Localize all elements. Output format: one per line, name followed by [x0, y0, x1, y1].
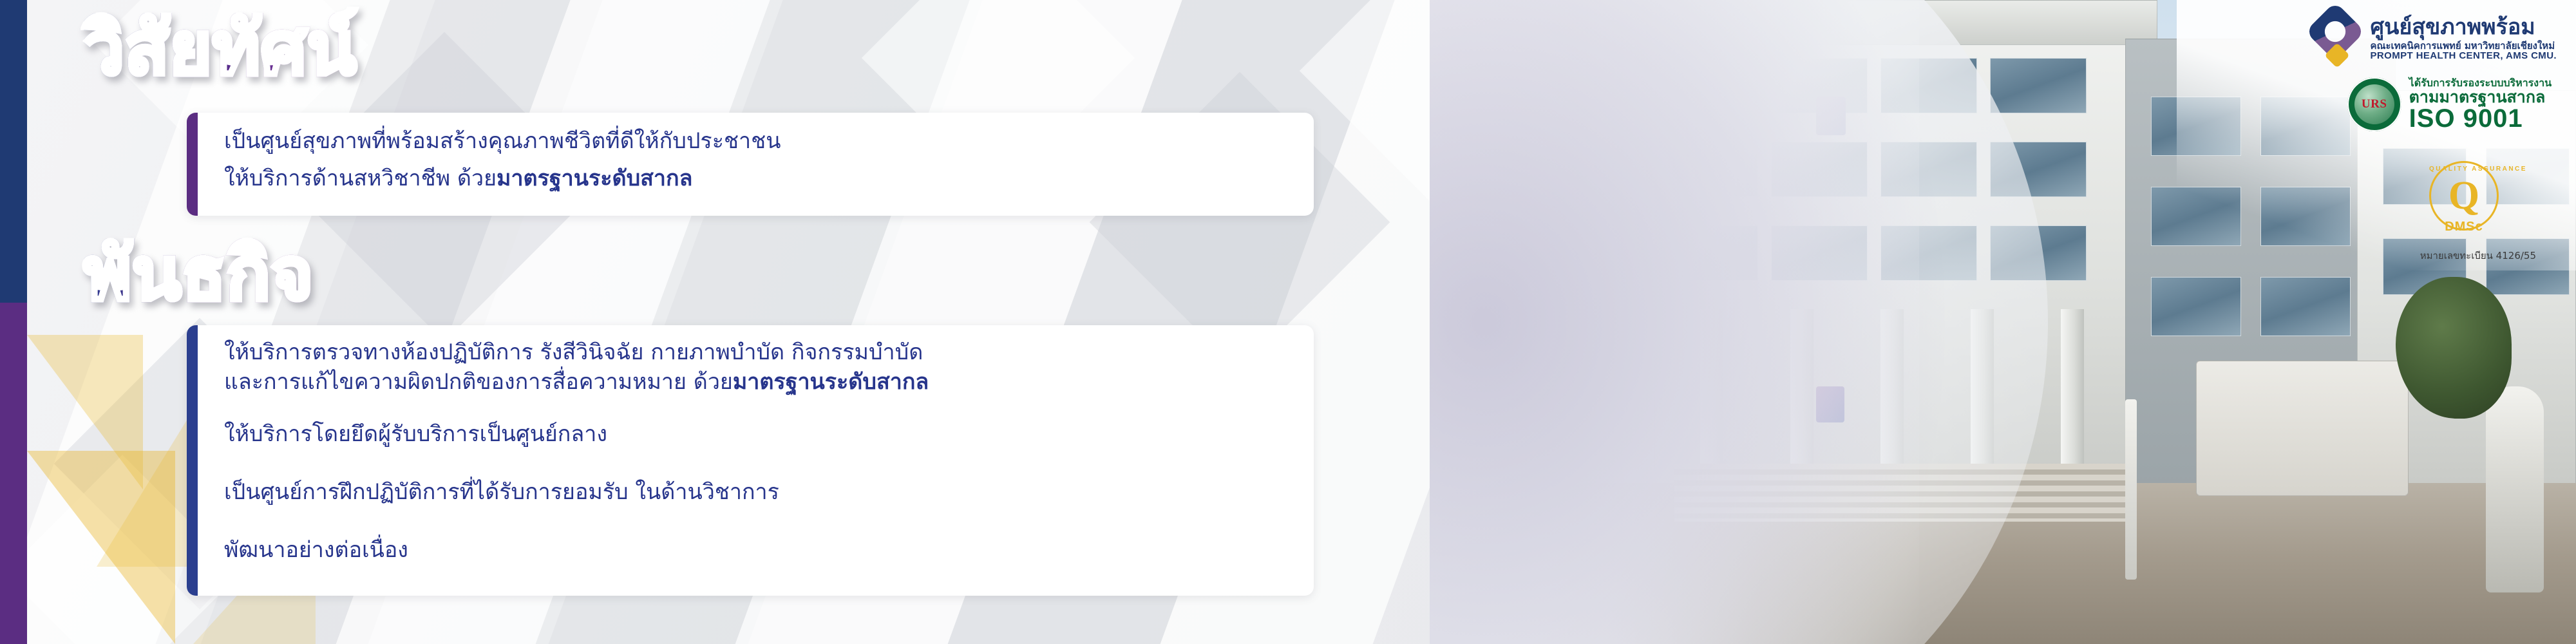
- mission-item-3-text: ให้บริการโดยยึดผู้รับบริการเป็นศูนย์กลาง: [224, 421, 607, 447]
- mission-item-1-text: ให้บริการตรวจทางห้องปฏิบัติการ รังสีวินิ…: [224, 339, 923, 365]
- q-badge-arc-bottom: DMSc: [2429, 220, 2499, 234]
- photo-building-sign: [2196, 361, 2409, 496]
- mission-item-4: เป็นศูนย์การฝึกปฏิบัติการที่ได้รับการยอม…: [224, 477, 779, 507]
- vision-line-2-text: ให้บริการด้านสหวิชาชีพ ด้วย: [224, 166, 497, 191]
- photo-window: [1990, 58, 2087, 113]
- iso-line-3: ISO 9001: [2409, 106, 2552, 131]
- mission-item-2: และการแก้ไขความผิดปกติของการสื่อความหมาย…: [224, 366, 929, 397]
- logo-title-th: ศูนย์สุขภาพพร้อม: [2371, 16, 2557, 39]
- photo-window: [2151, 277, 2241, 336]
- mission-item-3: ให้บริการโดยยึดผู้รับบริการเป็นศูนย์กลาง: [224, 419, 607, 450]
- photo-window: [2260, 277, 2351, 336]
- diamond-ring-logo-icon: [2311, 9, 2362, 68]
- mission-panel: ให้บริการตรวจทางห้องปฏิบัติการ รังสีวินิ…: [187, 325, 1314, 596]
- left-edge-bar-navy: [0, 0, 27, 303]
- registration-number: หมายเลขทะเบียน 4126/55: [2420, 248, 2536, 263]
- vision-line-2-bold: มาตรฐานระดับสากล: [497, 166, 692, 191]
- vision-line-1: เป็นศูนย์สุขภาพที่พร้อมสร้างคุณภาพชีวิตท…: [224, 126, 781, 156]
- vision-line-1-text: เป็นศูนย์สุขภาพที่พร้อมสร้างคุณภาพชีวิตท…: [224, 128, 781, 154]
- mission-item-1: ให้บริการตรวจทางห้องปฏิบัติการ รังสีวินิ…: [224, 337, 923, 368]
- mission-item-4-text: เป็นศูนย์การฝึกปฏิบัติการที่ได้รับการยอม…: [224, 479, 779, 505]
- bg-gold-triangle-3: [97, 399, 200, 567]
- logo-subtitle-th: คณะเทคนิคการแพทย์ มหาวิทยาลัยเชียงใหม่: [2371, 41, 2557, 52]
- mission-accent-bar: [187, 325, 198, 596]
- dmsc-quality-assurance-badge: QUALITY ASSURANCE Q DMSc: [2429, 161, 2499, 231]
- mission-item-2-bold: มาตรฐานระดับสากล: [733, 369, 929, 395]
- left-edge-bar-purple: [0, 303, 27, 644]
- mission-item-5-text: พัฒนาอย่างต่อเนื่อง: [224, 537, 408, 563]
- photo-purple-glow: [1430, 0, 1945, 644]
- iso-line-1: ได้รับการรับรองระบบบริหารงาน: [2409, 77, 2552, 88]
- urs-seal-ring: [2347, 77, 2401, 131]
- photo-column: [2486, 386, 2544, 592]
- mission-item-5: พัฒนาอย่างต่อเนื่อง: [224, 535, 408, 565]
- iso-line-2: ตามมาตรฐานสากล: [2409, 88, 2552, 106]
- vision-panel: เป็นศูนย์สุขภาพที่พร้อมสร้างคุณภาพชีวิตท…: [187, 113, 1314, 216]
- vision-mission-banner: วิสัยทัศน์ เป็นศูนย์สุขภาพที่พร้อมสร้างค…: [0, 0, 2576, 644]
- mission-item-2-text: และการแก้ไขความผิดปกติของการสื่อความหมาย…: [224, 369, 733, 395]
- logo-subtitle-en: PROMPT HEALTH CENTER, AMS CMU.: [2371, 51, 2557, 61]
- iso-9001-certification: URS ได้รับการรับรองระบบบริหารงาน ตามมาตร…: [2347, 77, 2552, 131]
- organization-logo: ศูนย์สุขภาพพร้อม คณะเทคนิคการแพทย์ มหาวิ…: [2311, 9, 2557, 68]
- photo-lamp-post: [2125, 399, 2137, 580]
- logo-text-block: ศูนย์สุขภาพพร้อม คณะเทคนิคการแพทย์ มหาวิ…: [2371, 16, 2557, 61]
- iso-text-block: ได้รับการรับรองระบบบริหารงาน ตามมาตรฐานส…: [2409, 77, 2552, 131]
- vision-line-2: ให้บริการด้านสหวิชาชีพ ด้วยมาตรฐานระดับส…: [224, 163, 692, 194]
- mission-heading: พันธกิจ: [84, 238, 314, 310]
- vision-accent-bar: [187, 113, 198, 216]
- vision-heading: วิสัยทัศน์: [84, 13, 357, 85]
- urs-seal-icon: URS: [2347, 77, 2401, 131]
